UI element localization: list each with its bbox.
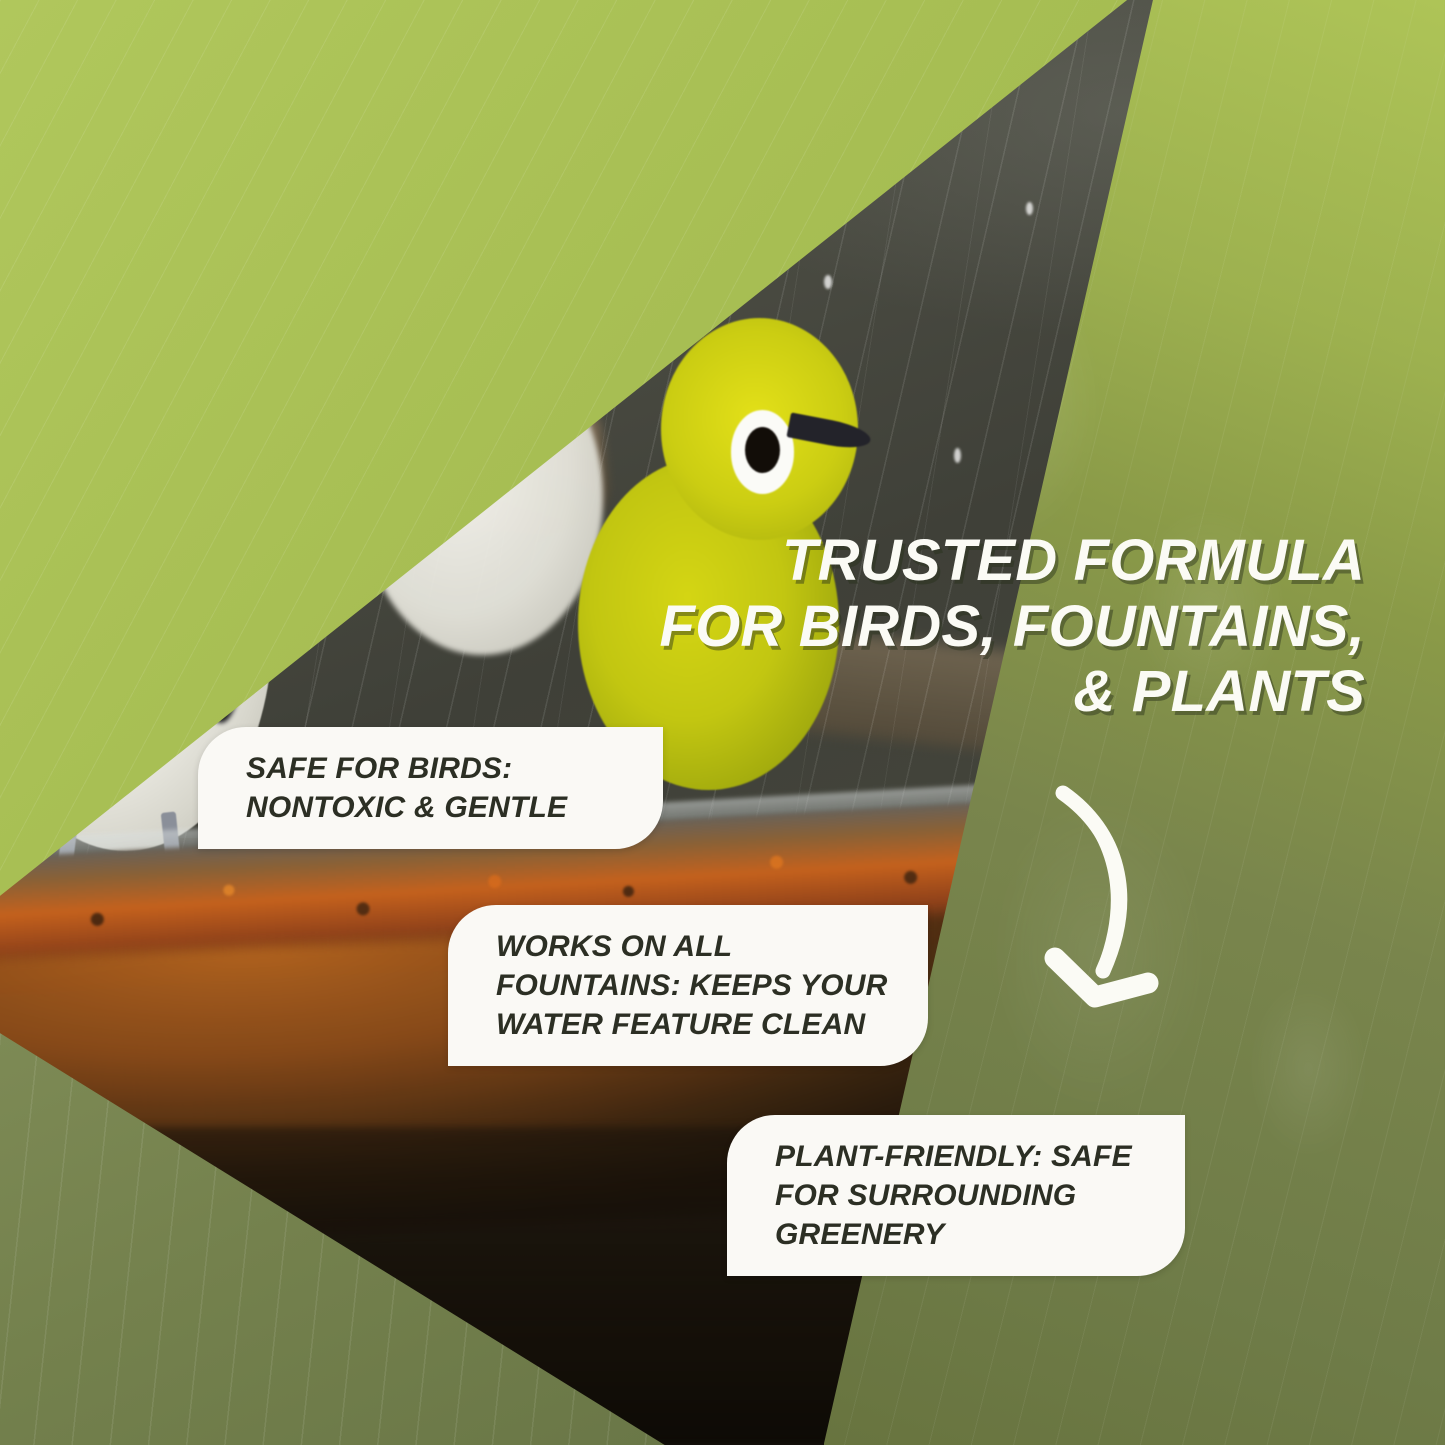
callout-3-line-2: FOR SURROUNDING [775,1176,1132,1215]
callout-1-line-1: SAFE FOR BIRDS: [246,749,567,788]
callout-2-line-1: WORKS ON ALL [496,927,887,966]
callout-3-line-1: PLANT-FRIENDLY: SAFE [775,1137,1132,1176]
headline-line-3: & PLANTS [605,659,1365,725]
callout-plant-friendly: PLANT-FRIENDLY: SAFE FOR SURROUNDING GRE… [727,1115,1185,1276]
callout-2-line-2: FOUNTAINS: KEEPS YOUR [496,966,887,1005]
callout-safe-for-birds: SAFE FOR BIRDS: NONTOXIC & GENTLE [198,727,663,849]
promo-graphic: TRUSTED FORMULA FOR BIRDS, FOUNTAINS, & … [0,0,1445,1445]
headline-line-1: TRUSTED FORMULA [605,528,1365,594]
callout-2-line-3: WATER FEATURE CLEAN [496,1005,887,1044]
callout-works-on-all-fountains: WORKS ON ALL FOUNTAINS: KEEPS YOUR WATER… [448,905,928,1066]
eye [745,427,780,473]
callout-3-line-3: GREENERY [775,1215,1132,1254]
callout-1-line-2: NONTOXIC & GENTLE [246,788,567,827]
page-title: TRUSTED FORMULA FOR BIRDS, FOUNTAINS, & … [605,528,1365,725]
headline-line-2: FOR BIRDS, FOUNTAINS, [605,594,1365,660]
